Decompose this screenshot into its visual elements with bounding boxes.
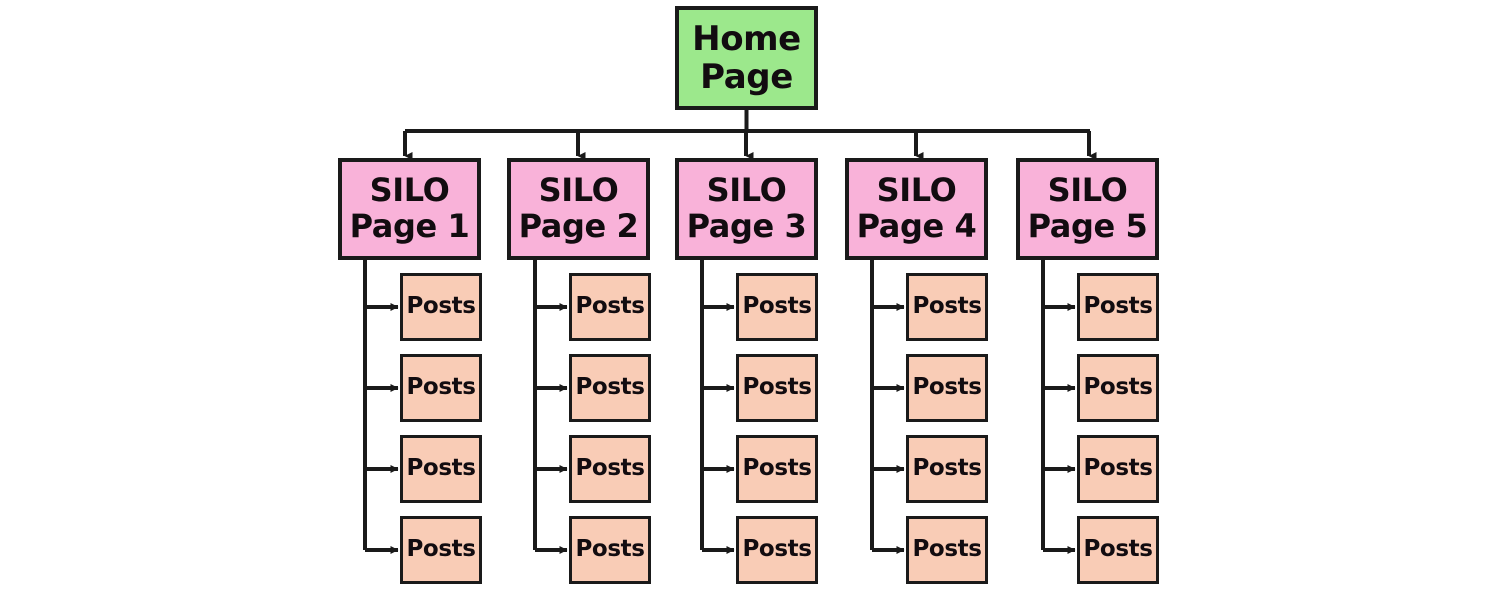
node-post-s1-3[interactable]: Posts (400, 435, 482, 503)
node-post-s4-2[interactable]: Posts (906, 354, 988, 422)
node-silo-page-1[interactable]: SILO Page 1 (338, 158, 481, 260)
node-post-label: Posts (742, 294, 811, 320)
node-post-label: Posts (406, 537, 475, 563)
node-post-s2-1[interactable]: Posts (569, 273, 651, 341)
node-post-s3-4[interactable]: Posts (736, 516, 818, 584)
node-silo-page-4-label: SILO Page 4 (857, 173, 977, 245)
node-post-label: Posts (406, 294, 475, 320)
node-silo-page-5-label: SILO Page 5 (1028, 173, 1148, 245)
node-post-label: Posts (575, 375, 644, 401)
node-post-label: Posts (912, 294, 981, 320)
node-post-s3-1[interactable]: Posts (736, 273, 818, 341)
node-post-label: Posts (742, 375, 811, 401)
node-post-label: Posts (1083, 456, 1152, 482)
node-silo-page-4[interactable]: SILO Page 4 (845, 158, 988, 260)
node-home-page[interactable]: Home Page (675, 6, 818, 110)
node-post-s2-4[interactable]: Posts (569, 516, 651, 584)
node-silo-page-3[interactable]: SILO Page 3 (675, 158, 818, 260)
node-post-s4-3[interactable]: Posts (906, 435, 988, 503)
node-post-label: Posts (1083, 537, 1152, 563)
silo-structure-diagram: Home Page SILO Page 1PostsPostsPostsPost… (0, 0, 1500, 600)
node-post-label: Posts (406, 375, 475, 401)
node-post-s5-1[interactable]: Posts (1077, 273, 1159, 341)
node-post-s3-2[interactable]: Posts (736, 354, 818, 422)
node-post-s5-3[interactable]: Posts (1077, 435, 1159, 503)
node-post-label: Posts (406, 456, 475, 482)
node-post-label: Posts (742, 537, 811, 563)
node-post-label: Posts (742, 456, 811, 482)
node-post-label: Posts (575, 537, 644, 563)
node-silo-page-2-label: SILO Page 2 (519, 173, 639, 245)
node-post-s5-4[interactable]: Posts (1077, 516, 1159, 584)
node-silo-page-3-label: SILO Page 3 (687, 173, 807, 245)
node-post-s4-4[interactable]: Posts (906, 516, 988, 584)
node-post-s2-2[interactable]: Posts (569, 354, 651, 422)
node-post-s1-2[interactable]: Posts (400, 354, 482, 422)
node-home-page-label: Home Page (692, 20, 801, 96)
node-post-label: Posts (1083, 375, 1152, 401)
node-post-label: Posts (1083, 294, 1152, 320)
node-post-s2-3[interactable]: Posts (569, 435, 651, 503)
node-silo-page-1-label: SILO Page 1 (350, 173, 470, 245)
node-silo-page-2[interactable]: SILO Page 2 (507, 158, 650, 260)
node-post-s3-3[interactable]: Posts (736, 435, 818, 503)
node-post-s1-4[interactable]: Posts (400, 516, 482, 584)
node-silo-page-5[interactable]: SILO Page 5 (1016, 158, 1159, 260)
node-post-s5-2[interactable]: Posts (1077, 354, 1159, 422)
node-post-s4-1[interactable]: Posts (906, 273, 988, 341)
node-post-label: Posts (575, 294, 644, 320)
node-post-label: Posts (912, 537, 981, 563)
node-post-label: Posts (575, 456, 644, 482)
node-post-s1-1[interactable]: Posts (400, 273, 482, 341)
node-post-label: Posts (912, 456, 981, 482)
node-post-label: Posts (912, 375, 981, 401)
